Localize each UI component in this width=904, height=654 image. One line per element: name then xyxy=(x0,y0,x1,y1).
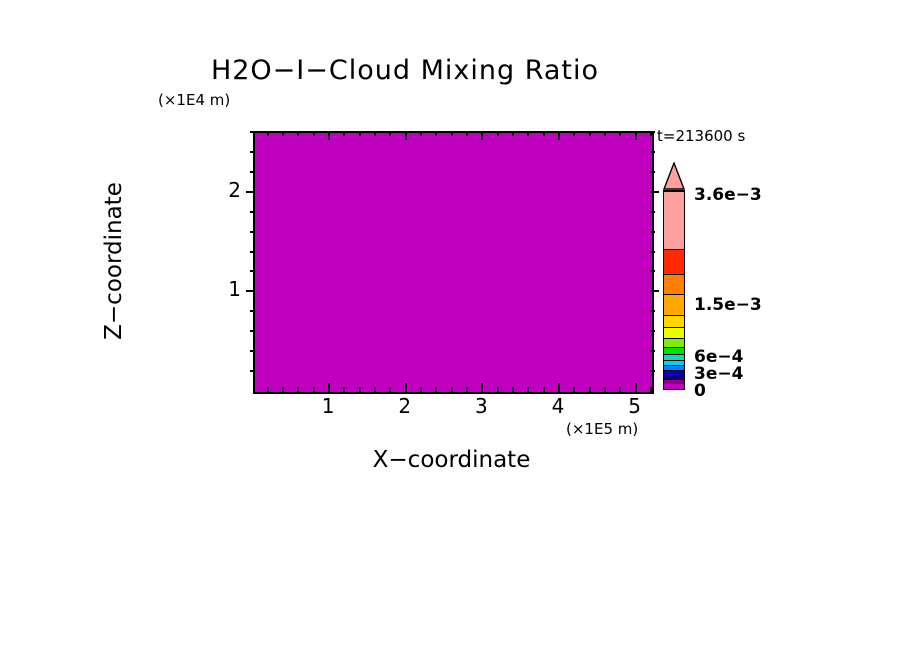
y-tick-right-1 xyxy=(650,290,659,292)
x-tick-bottom-3.6 xyxy=(527,387,529,392)
y-tick-left-1.4 xyxy=(250,251,255,253)
colorbar-band-11 xyxy=(664,294,684,314)
x-tick-bottom-0.8 xyxy=(313,387,315,392)
y-tick-left-0.8 xyxy=(250,310,255,312)
x-tick-top-3.2 xyxy=(497,131,499,136)
x-tick-bottom-5 xyxy=(635,383,637,392)
x-tick-top-5 xyxy=(635,131,637,140)
y-axis-units-label: (×1E4 m) xyxy=(158,91,230,109)
y-tick-left-2.2 xyxy=(250,171,255,173)
x-tick-bottom-2.6 xyxy=(451,387,453,392)
x-tick-top-4.8 xyxy=(619,131,621,136)
x-tick-top-1.6 xyxy=(374,131,376,136)
x-tick-bottom-2.4 xyxy=(435,387,437,392)
x-tick-bottom-3.8 xyxy=(543,387,545,392)
y-tick-left-2 xyxy=(246,191,255,193)
y-tick-right-0.8 xyxy=(650,310,655,312)
x-tick-bottom-1.4 xyxy=(359,387,361,392)
x-tick-top-3.8 xyxy=(543,131,545,136)
y-tick-right-1.6 xyxy=(650,231,655,233)
x-tick-top-0.4 xyxy=(282,131,284,136)
x-axis-title: X−coordinate xyxy=(253,447,650,473)
x-tick-bottom-2.2 xyxy=(420,387,422,392)
y-tick-right-1.2 xyxy=(650,270,655,272)
y-tick-right-0.2 xyxy=(650,370,655,372)
x-tick-top-0.2 xyxy=(267,131,269,136)
colorbar-band-12 xyxy=(664,274,684,294)
y-tick-right-2 xyxy=(650,191,659,193)
x-tick-bottom-3.4 xyxy=(512,387,514,392)
x-tick-bottom-4.6 xyxy=(604,387,606,392)
y-tick-left-1.8 xyxy=(250,211,255,213)
x-tick-top-2.6 xyxy=(451,131,453,136)
contour-plot-area xyxy=(253,131,654,394)
time-stamp-label: t=213600 s xyxy=(657,127,745,145)
x-tick-top-0.8 xyxy=(313,131,315,136)
x-tick-bottom-2.8 xyxy=(466,387,468,392)
x-tick-top-0.6 xyxy=(297,131,299,136)
y-tick-left-0.4 xyxy=(250,350,255,352)
x-tick-top-3.4 xyxy=(512,131,514,136)
x-tick-bottom-0.2 xyxy=(267,387,269,392)
colorbar xyxy=(663,162,687,392)
y-tick-right-2.4 xyxy=(650,151,655,153)
x-tick-top-1.8 xyxy=(389,131,391,136)
x-tick-bottom-4.4 xyxy=(589,387,591,392)
x-tick-top-4.4 xyxy=(589,131,591,136)
x-tick-bottom-3.2 xyxy=(497,387,499,392)
x-tick-top-1.2 xyxy=(343,131,345,136)
y-tick-left-0.6 xyxy=(250,330,255,332)
x-tick-top-2 xyxy=(405,131,407,140)
y-tick-left-0.2 xyxy=(250,370,255,372)
x-tick-top-4 xyxy=(558,131,560,140)
x-tick-bottom-1.8 xyxy=(389,387,391,392)
x-tick-top-4.2 xyxy=(573,131,575,136)
y-tick-right-0.4 xyxy=(650,350,655,352)
x-tick-label-4: 4 xyxy=(543,394,573,418)
y-tick-right-2.6 xyxy=(650,131,655,133)
x-tick-top-1.4 xyxy=(359,131,361,136)
x-tick-bottom-4.2 xyxy=(573,387,575,392)
x-tick-bottom-4 xyxy=(558,383,560,392)
x-tick-bottom-3 xyxy=(481,383,483,392)
colorbar-band-10 xyxy=(664,315,684,328)
colorbar-band-14 xyxy=(664,191,684,249)
x-tick-label-5: 5 xyxy=(620,394,650,418)
x-tick-bottom-2 xyxy=(405,383,407,392)
y-tick-left-2.6 xyxy=(250,131,255,133)
x-tick-top-3 xyxy=(481,131,483,140)
y-tick-left-1.6 xyxy=(250,231,255,233)
y-axis-title: Z−coordinate xyxy=(101,131,127,391)
x-tick-bottom-4.8 xyxy=(619,387,621,392)
x-axis-units-label: (×1E5 m) xyxy=(566,420,638,438)
colorbar-band-13 xyxy=(664,249,684,274)
y-tick-label-1: 1 xyxy=(213,277,241,301)
y-tick-right-1.4 xyxy=(650,251,655,253)
contour-field-canvas xyxy=(255,133,652,392)
x-tick-label-3: 3 xyxy=(466,394,496,418)
colorbar-label-1: 1.5e−3 xyxy=(694,295,762,315)
colorbar-band-0 xyxy=(664,384,684,389)
colorbar-band-7 xyxy=(664,347,684,355)
x-tick-top-2.4 xyxy=(435,131,437,136)
x-tick-label-2: 2 xyxy=(390,394,420,418)
colorbar-band-8 xyxy=(664,338,684,347)
y-tick-left-1.2 xyxy=(250,270,255,272)
page-title: H2O−I−Cloud Mixing Ratio xyxy=(0,55,857,86)
colorbar-label-4: 0 xyxy=(694,381,706,401)
x-tick-top-3.6 xyxy=(527,131,529,136)
x-tick-bottom-1.6 xyxy=(374,387,376,392)
y-tick-right-1.8 xyxy=(650,211,655,213)
x-tick-bottom-5.2 xyxy=(650,387,652,392)
y-tick-left-2.4 xyxy=(250,151,255,153)
y-tick-right-0.6 xyxy=(650,330,655,332)
colorbar-band-9 xyxy=(664,327,684,338)
x-tick-top-1 xyxy=(328,131,330,140)
x-tick-bottom-0.4 xyxy=(282,387,284,392)
x-tick-top-4.6 xyxy=(604,131,606,136)
y-tick-left-1 xyxy=(246,290,255,292)
x-tick-label-1: 1 xyxy=(313,394,343,418)
y-tick-label-2: 2 xyxy=(213,178,241,202)
x-tick-bottom-0.6 xyxy=(297,387,299,392)
x-tick-bottom-1 xyxy=(328,383,330,392)
y-tick-right-2.2 xyxy=(650,171,655,173)
x-tick-top-2.8 xyxy=(466,131,468,136)
colorbar-arrow-icon xyxy=(663,162,687,190)
colorbar-label-0: 3.6e−3 xyxy=(694,185,762,205)
colorbar-bands xyxy=(663,190,685,390)
x-tick-top-2.2 xyxy=(420,131,422,136)
x-tick-bottom-1.2 xyxy=(343,387,345,392)
